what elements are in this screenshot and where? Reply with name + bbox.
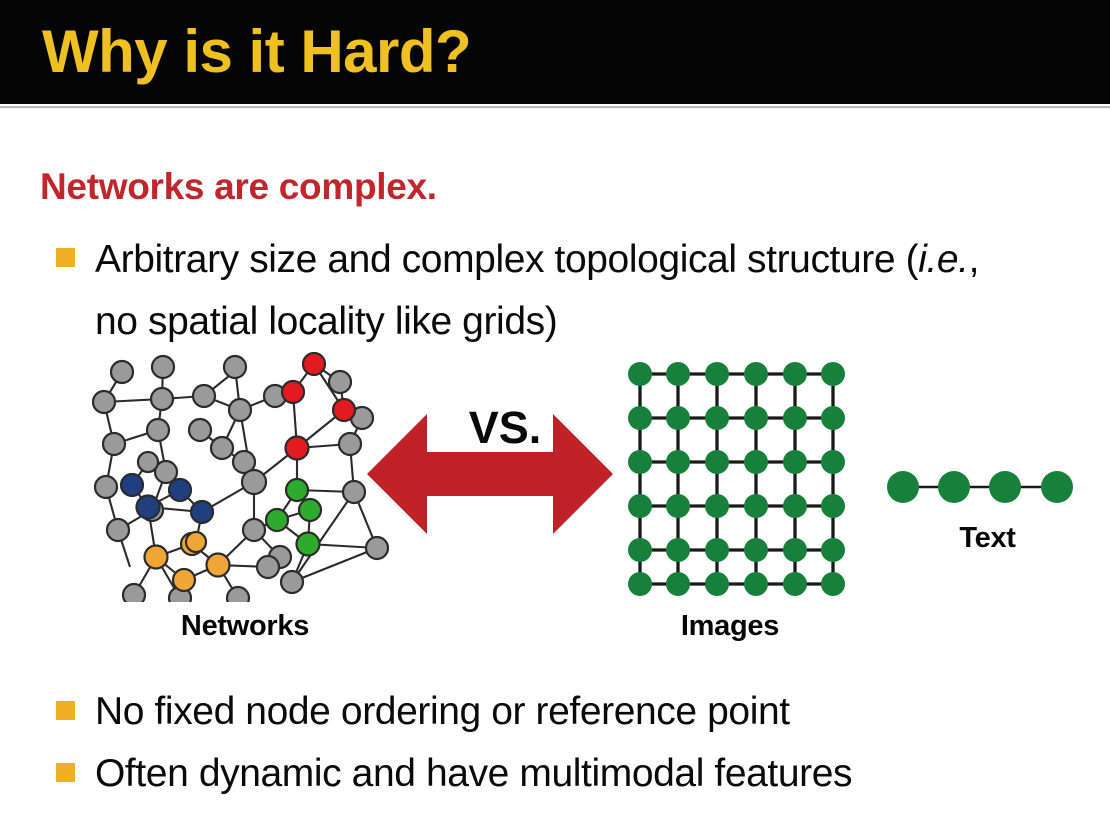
graph-node-group-orange (145, 532, 230, 591)
figure-label-networks: Networks (95, 610, 395, 643)
bullet-label-often-dynamic: Often dynamic and have multimodal featur… (95, 743, 852, 805)
section-subheading: Networks are complex. (40, 166, 437, 208)
bullet-square-icon (56, 701, 75, 720)
networks-graph-figure (92, 352, 402, 602)
header-divider-rule (0, 104, 1110, 113)
bullet-label-arbitrary-size: Arbitrary size and complex topological s… (95, 229, 1006, 353)
figure-label-images: Images (605, 610, 855, 643)
bullet-text-italic: i.e. (918, 238, 968, 281)
bullet-text-before: Arbitrary size and complex topological s… (95, 238, 918, 281)
double-arrow-shape (367, 414, 613, 534)
text-chain-svg (885, 462, 1080, 512)
vs-arrow-figure (365, 394, 615, 554)
grid-nodes (628, 362, 845, 596)
bullet-square-icon (56, 248, 75, 267)
text-chain-figure (885, 462, 1080, 512)
bullet-item-no-fixed-ordering: No fixed node ordering or reference poin… (56, 681, 1056, 743)
slide-canvas: Why is it Hard? Networks are complex. Ar… (0, 0, 1110, 813)
bullet-item-often-dynamic: Often dynamic and have multimodal featur… (56, 743, 1066, 805)
page-title: Why is it Hard? (42, 14, 471, 90)
graph-nodes (93, 353, 388, 602)
bullet-item-arbitrary-size: Arbitrary size and complex topological s… (56, 229, 1006, 353)
images-grid-svg (620, 356, 855, 601)
bullet-square-icon (56, 763, 75, 782)
figure-label-text: Text (875, 522, 1100, 555)
images-grid-figure (620, 356, 855, 601)
comparison-figure: Networks VS. (0, 352, 1110, 652)
bullet-label-no-fixed-ordering: No fixed node ordering or reference poin… (95, 681, 790, 743)
networks-graph-svg (92, 352, 402, 602)
double-arrow-icon (365, 394, 615, 554)
